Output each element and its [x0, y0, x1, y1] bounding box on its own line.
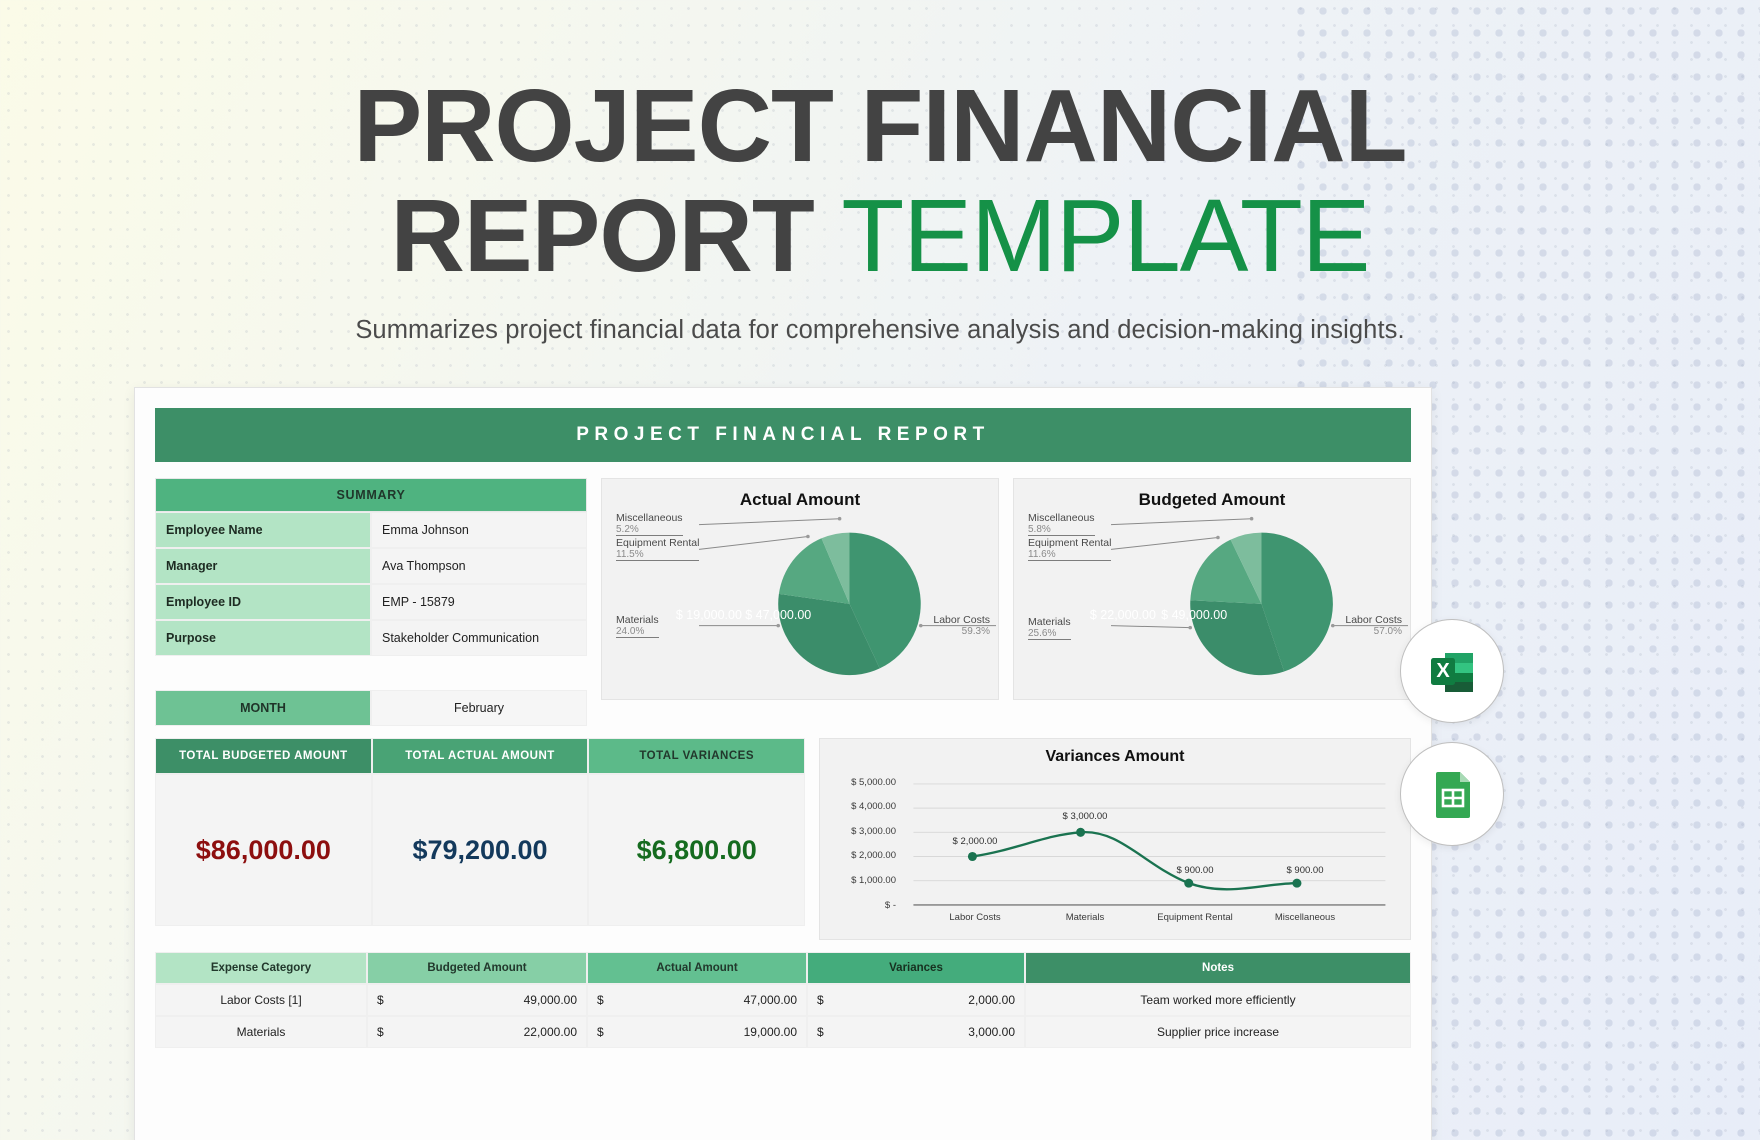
month-label: MONTH: [155, 690, 371, 726]
table-row[interactable]: Materials $22,000.00 $19,000.00 $3,000.0…: [155, 1016, 1411, 1048]
pie-value-labor-budgeted: $ 49,000.00: [1161, 608, 1227, 622]
cell-category: Labor Costs [1]: [155, 984, 367, 1016]
page-subtitle: Summarizes project financial data for co…: [0, 316, 1760, 345]
x-tick-misc: Miscellaneous: [1250, 912, 1360, 923]
pie-value-materials-actual: $ 19,000.00: [676, 608, 742, 622]
cell-notes: Supplier price increase: [1025, 1016, 1411, 1048]
y-tick-zero: $ -: [830, 900, 896, 911]
svg-text:X: X: [1436, 660, 1450, 682]
excel-download-button[interactable]: X: [1400, 619, 1504, 723]
cell-actual: $47,000.00: [587, 984, 807, 1016]
summary-value-employee-id[interactable]: EMP - 15879: [371, 584, 587, 620]
cell-budget: $22,000.00: [367, 1016, 587, 1048]
table-row: Purpose Stakeholder Communication: [155, 620, 587, 656]
table-row[interactable]: Labor Costs [1] $49,000.00 $47,000.00 $2…: [155, 984, 1411, 1016]
report-banner: PROJECT FINANCIAL REPORT: [155, 408, 1411, 462]
pie-value-labor-actual: $ 47,000.00: [745, 608, 811, 622]
pie-label-labor-budgeted: Labor Costs57.0%: [1345, 614, 1402, 637]
pie-label-equipment-actual: Equipment Rental11.5%: [616, 537, 699, 561]
chart-budgeted-amount: Budgeted Amount: [1013, 478, 1411, 700]
cell-actual: $19,000.00: [587, 1016, 807, 1048]
total-header-budgeted: TOTAL BUDGETED AMOUNT: [155, 738, 372, 774]
line-svg-variances: [820, 739, 1410, 939]
cell-variance: $2,000.00: [807, 984, 1025, 1016]
pie-label-misc-budgeted: Miscellaneous5.8%: [1028, 512, 1095, 536]
summary-header: SUMMARY: [155, 478, 587, 512]
total-header-variances: TOTAL VARIANCES: [588, 738, 805, 774]
pie-label-equipment-budgeted: Equipment Rental11.6%: [1028, 537, 1111, 561]
page-title-accent: TEMPLATE: [841, 178, 1369, 293]
summary-key-employee-id: Employee ID: [155, 584, 371, 620]
summary-key-employee-name: Employee Name: [155, 512, 371, 548]
month-row: MONTH February: [155, 690, 587, 726]
y-tick-4000: $ 4,000.00: [830, 801, 896, 812]
pie-label-labor-actual: Labor Costs59.3%: [933, 614, 990, 637]
cell-notes: Team worked more efficiently: [1025, 984, 1411, 1016]
col-budgeted-amount: Budgeted Amount: [367, 952, 587, 984]
page-title-line-2: REPORT TEMPLATE: [0, 182, 1760, 290]
data-label-misc: $ 900.00: [1260, 865, 1350, 876]
total-value-variances: $6,800.00: [588, 774, 805, 926]
cell-budget: $49,000.00: [367, 984, 587, 1016]
summary-key-manager: Manager: [155, 548, 371, 584]
google-sheets-icon: [1424, 766, 1480, 822]
table-row: Employee ID EMP - 15879: [155, 584, 587, 620]
totals-block: TOTAL BUDGETED AMOUNT TOTAL ACTUAL AMOUN…: [155, 738, 805, 940]
summary-value-employee-name[interactable]: Emma Johnson: [371, 512, 587, 548]
table-row: Manager Ava Thompson: [155, 548, 587, 584]
chart-actual-amount: Actual Amount: [601, 478, 999, 700]
page-title-dark: REPORT: [391, 178, 842, 293]
col-notes: Notes: [1025, 952, 1411, 984]
pie-label-materials-budgeted: Materials25.6%: [1028, 616, 1071, 640]
x-tick-labor: Labor Costs: [920, 912, 1030, 923]
data-label-materials: $ 3,000.00: [1040, 811, 1130, 822]
spreadsheet-card: PROJECT FINANCIAL REPORT SUMMARY Employe…: [134, 387, 1432, 1140]
y-tick-2000: $ 2,000.00: [830, 850, 896, 861]
summary-value-manager[interactable]: Ava Thompson: [371, 548, 587, 584]
excel-icon: X: [1423, 642, 1481, 700]
total-header-actual: TOTAL ACTUAL AMOUNT: [372, 738, 589, 774]
table-row: Employee Name Emma Johnson: [155, 512, 587, 548]
expense-table: Expense Category Budgeted Amount Actual …: [155, 952, 1411, 1048]
pie-value-materials-budgeted: $ 22,000.00: [1090, 608, 1156, 622]
pie-label-materials-actual: Materials24.0%: [616, 614, 659, 638]
summary-key-purpose: Purpose: [155, 620, 371, 656]
summary-value-purpose[interactable]: Stakeholder Communication: [371, 620, 587, 656]
month-value[interactable]: February: [371, 690, 587, 726]
x-tick-equipment: Equipment Rental: [1140, 912, 1250, 923]
expense-table-header: Expense Category Budgeted Amount Actual …: [155, 952, 1411, 984]
y-tick-3000: $ 3,000.00: [830, 826, 896, 837]
page-header: PROJECT FINANCIAL REPORT TEMPLATE Summar…: [0, 0, 1760, 345]
total-value-actual: $79,200.00: [372, 774, 589, 926]
col-expense-category: Expense Category: [155, 952, 367, 984]
data-label-equipment: $ 900.00: [1150, 865, 1240, 876]
y-tick-1000: $ 1,000.00: [830, 875, 896, 886]
pie-label-misc-actual: Miscellaneous5.2%: [616, 512, 683, 536]
page-title-line-1: PROJECT FINANCIAL: [0, 72, 1760, 180]
google-sheets-download-button[interactable]: [1400, 742, 1504, 846]
cell-variance: $3,000.00: [807, 1016, 1025, 1048]
col-actual-amount: Actual Amount: [587, 952, 807, 984]
x-tick-materials: Materials: [1030, 912, 1140, 923]
cell-category: Materials: [155, 1016, 367, 1048]
y-tick-5000: $ 5,000.00: [830, 777, 896, 788]
summary-table: SUMMARY Employee Name Emma Johnson Manag…: [155, 478, 587, 726]
chart-variances-amount: Variances Amount $ 5,000.00: [819, 738, 1411, 940]
data-label-labor: $ 2,000.00: [930, 836, 1020, 847]
total-value-budgeted: $86,000.00: [155, 774, 372, 926]
col-variances: Variances: [807, 952, 1025, 984]
